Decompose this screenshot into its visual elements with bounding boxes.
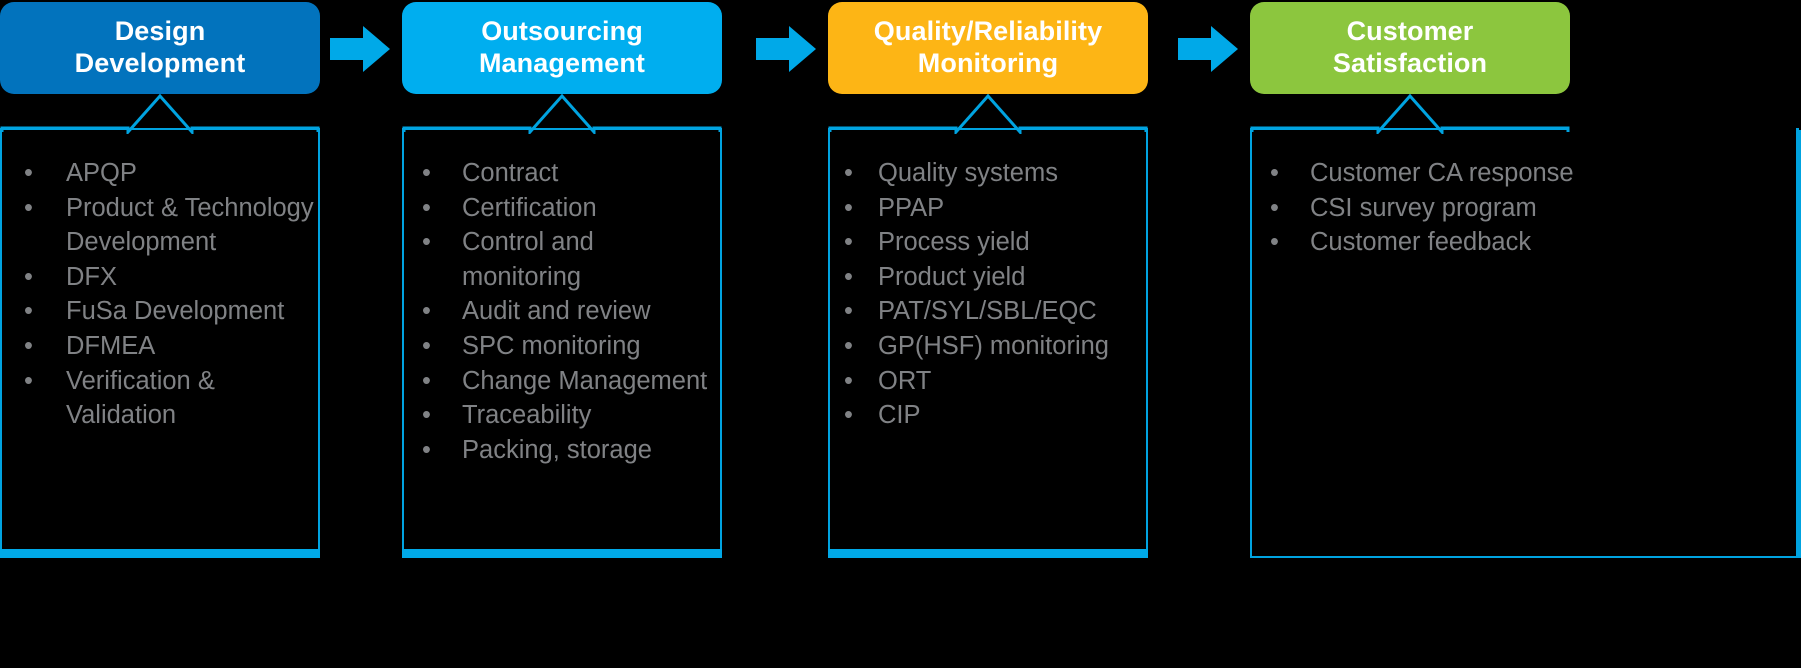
bullet-icon: • xyxy=(1270,156,1280,191)
right-arrow-icon xyxy=(1178,24,1238,74)
list-item[interactable]: • DFX xyxy=(2,260,314,295)
stage-header-line2: Management xyxy=(479,48,645,80)
stage-panel-customer-satisfaction: • Customer CA response • CSI survey prog… xyxy=(1250,130,1801,558)
list-item[interactable]: • Quality systems xyxy=(830,156,1142,191)
bullet-icon: • xyxy=(844,260,854,295)
list-item[interactable]: • CSI survey program xyxy=(1252,191,1590,226)
bullet-icon: • xyxy=(844,294,854,329)
panel-bottom-bar xyxy=(828,549,1148,558)
bullet-icon: • xyxy=(422,191,432,226)
list-item[interactable]: • Customer feedback xyxy=(1252,225,1590,260)
list-item[interactable]: • FuSa Development xyxy=(2,294,314,329)
panel-top-border xyxy=(828,128,1148,130)
bullet-icon: • xyxy=(844,329,854,364)
list-item[interactable]: • APQP xyxy=(2,156,314,191)
bullet-icon: • xyxy=(24,191,34,226)
stage-item-list-customer-satisfaction: • Customer CA response • CSI survey prog… xyxy=(1252,130,1799,260)
list-item[interactable]: • DFMEA xyxy=(2,329,314,364)
stage-header-line1: Design xyxy=(75,16,246,48)
list-item[interactable]: • ORT xyxy=(830,364,1142,399)
list-item[interactable]: • GP(HSF) monitoring xyxy=(830,329,1142,364)
bullet-icon: • xyxy=(24,260,34,295)
bullet-icon: • xyxy=(1270,225,1280,260)
right-arrow-icon xyxy=(330,24,390,74)
stage-panel-design-development: • APQP • Product & Technology Developmen… xyxy=(0,130,320,558)
stage-header-line2: Monitoring xyxy=(874,48,1102,80)
bullet-icon: • xyxy=(422,433,432,468)
stage-header-customer-satisfaction[interactable]: Customer Satisfaction xyxy=(1250,2,1570,94)
list-item[interactable]: • SPC monitoring xyxy=(404,329,716,364)
bullet-icon: • xyxy=(422,156,432,191)
panel-bottom-bar xyxy=(0,549,320,558)
list-item[interactable]: • CIP xyxy=(830,398,1142,433)
panel-bottom-bar xyxy=(402,549,722,558)
bullet-icon: • xyxy=(24,364,34,399)
stage-header-line1: Quality/Reliability xyxy=(874,16,1102,48)
stage-header-quality-reliability-monitoring[interactable]: Quality/Reliability Monitoring xyxy=(828,2,1148,94)
bullet-icon: • xyxy=(844,191,854,226)
stage-panel-quality-reliability-monitoring: • Quality systems • PPAP • Process yield… xyxy=(828,130,1148,558)
bullet-icon: • xyxy=(844,398,854,433)
list-item[interactable]: • PPAP xyxy=(830,191,1142,226)
list-item[interactable]: • Customer CA response xyxy=(1252,156,1590,191)
stage-header-outsourcing-management[interactable]: Outsourcing Management xyxy=(402,2,722,94)
list-item[interactable]: • Control and monitoring xyxy=(404,225,716,294)
stage-item-list-design-development: • APQP • Product & Technology Developmen… xyxy=(2,130,318,433)
list-item[interactable]: • Change Management xyxy=(404,364,716,399)
stage-item-list-quality-reliability-monitoring: • Quality systems • PPAP • Process yield… xyxy=(830,130,1146,433)
list-item[interactable]: • PAT/SYL/SBL/EQC xyxy=(830,294,1142,329)
process-flow-diagram: Design Development • APQP • Product & Te… xyxy=(0,0,1801,668)
list-item[interactable]: • Product yield xyxy=(830,260,1142,295)
bullet-icon: • xyxy=(844,225,854,260)
list-item[interactable]: • Audit and review xyxy=(404,294,716,329)
bullet-icon: • xyxy=(422,225,432,260)
list-item[interactable]: • Traceability xyxy=(404,398,716,433)
bullet-icon: • xyxy=(422,398,432,433)
bullet-icon: • xyxy=(844,364,854,399)
stage-header-line2: Development xyxy=(75,48,246,80)
bullet-icon: • xyxy=(24,156,34,191)
bullet-icon: • xyxy=(422,294,432,329)
panel-top-border xyxy=(1250,128,1567,130)
bullet-icon: • xyxy=(24,294,34,329)
bullet-icon: • xyxy=(422,364,432,399)
panel-top-border xyxy=(0,128,320,130)
panel-top-border xyxy=(402,128,722,130)
bullet-icon: • xyxy=(844,156,854,191)
panel-right-border xyxy=(1796,128,1799,558)
stage-header-line2: Satisfaction xyxy=(1333,48,1487,80)
list-item[interactable]: • Verification & Validation xyxy=(2,364,314,433)
right-arrow-icon xyxy=(756,24,816,74)
bullet-icon: • xyxy=(24,329,34,364)
list-item[interactable]: • Process yield xyxy=(830,225,1142,260)
stage-item-list-outsourcing-management: • Contract • Certification • Control and… xyxy=(404,130,720,467)
list-item[interactable]: • Packing, storage xyxy=(404,433,716,468)
list-item[interactable]: • Product & Technology Development xyxy=(2,191,314,260)
stage-header-line1: Customer xyxy=(1333,16,1487,48)
bullet-icon: • xyxy=(422,329,432,364)
stage-panel-outsourcing-management: • Contract • Certification • Control and… xyxy=(402,130,722,558)
stage-header-design-development[interactable]: Design Development xyxy=(0,2,320,94)
list-item[interactable]: • Contract xyxy=(404,156,716,191)
list-item[interactable]: • Certification xyxy=(404,191,716,226)
stage-header-line1: Outsourcing xyxy=(479,16,645,48)
bullet-icon: • xyxy=(1270,191,1280,226)
